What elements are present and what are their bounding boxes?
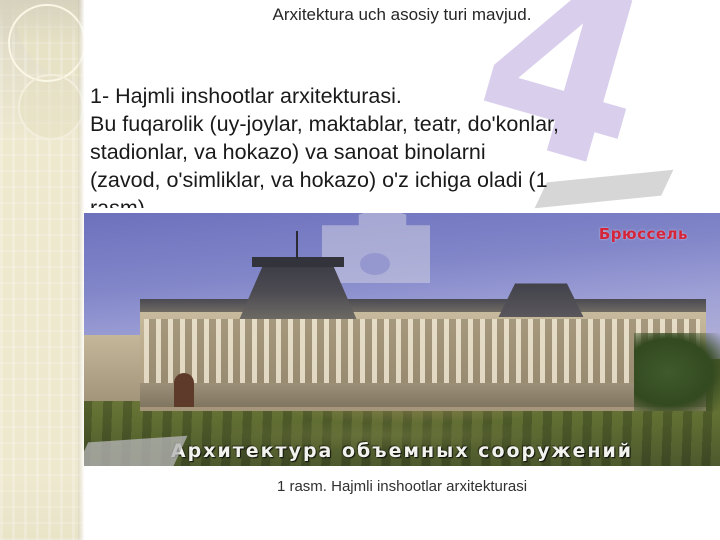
photo-puzzle-hole [360, 253, 390, 275]
photo-pavilion-cap [252, 257, 344, 267]
figure-caption: 1 rasm. Hajmli inshootlar arxitekturasi [84, 478, 720, 495]
photo-flagpole [296, 231, 298, 259]
body-line-2: Bu fuqarolik (uy-joylar, maktablar, teat… [90, 110, 710, 138]
sidebar-ring-small-icon [18, 74, 84, 140]
decorative-sidebar [0, 0, 84, 540]
content-area: 4 Arxitektura uch asosiy turi mavjud. 1-… [84, 0, 720, 540]
photo-basement-level [140, 383, 706, 407]
photo-roofline [140, 299, 706, 312]
figure-image-royal-palace-brussels: Брюссель Архитектура объемных сооружений [84, 213, 720, 466]
body-line-3: stadionlar, va hokazo) va sanoat binolar… [90, 138, 710, 166]
photo-city-label: Брюссель [599, 225, 688, 243]
photo-main-entrance [174, 373, 194, 407]
body-line-5-clipped: rasm). [90, 194, 710, 208]
photo-trees [634, 333, 720, 411]
body-line-1: 1- Hajmli inshootlar arxitekturasi. [90, 82, 710, 110]
body-line-4: (zavod, o'simliklar, va hokazo) o'z ichi… [90, 166, 710, 194]
slide-body-text: 1- Hajmli inshootlar arxitekturasi. Bu f… [90, 82, 710, 208]
slide-title: Arxitektura uch asosiy turi mavjud. [84, 4, 720, 26]
sidebar-ring-large-icon [8, 4, 84, 82]
photo-colonnade [144, 319, 700, 385]
slide-canvas: 4 Arxitektura uch asosiy turi mavjud. 1-… [0, 0, 720, 540]
